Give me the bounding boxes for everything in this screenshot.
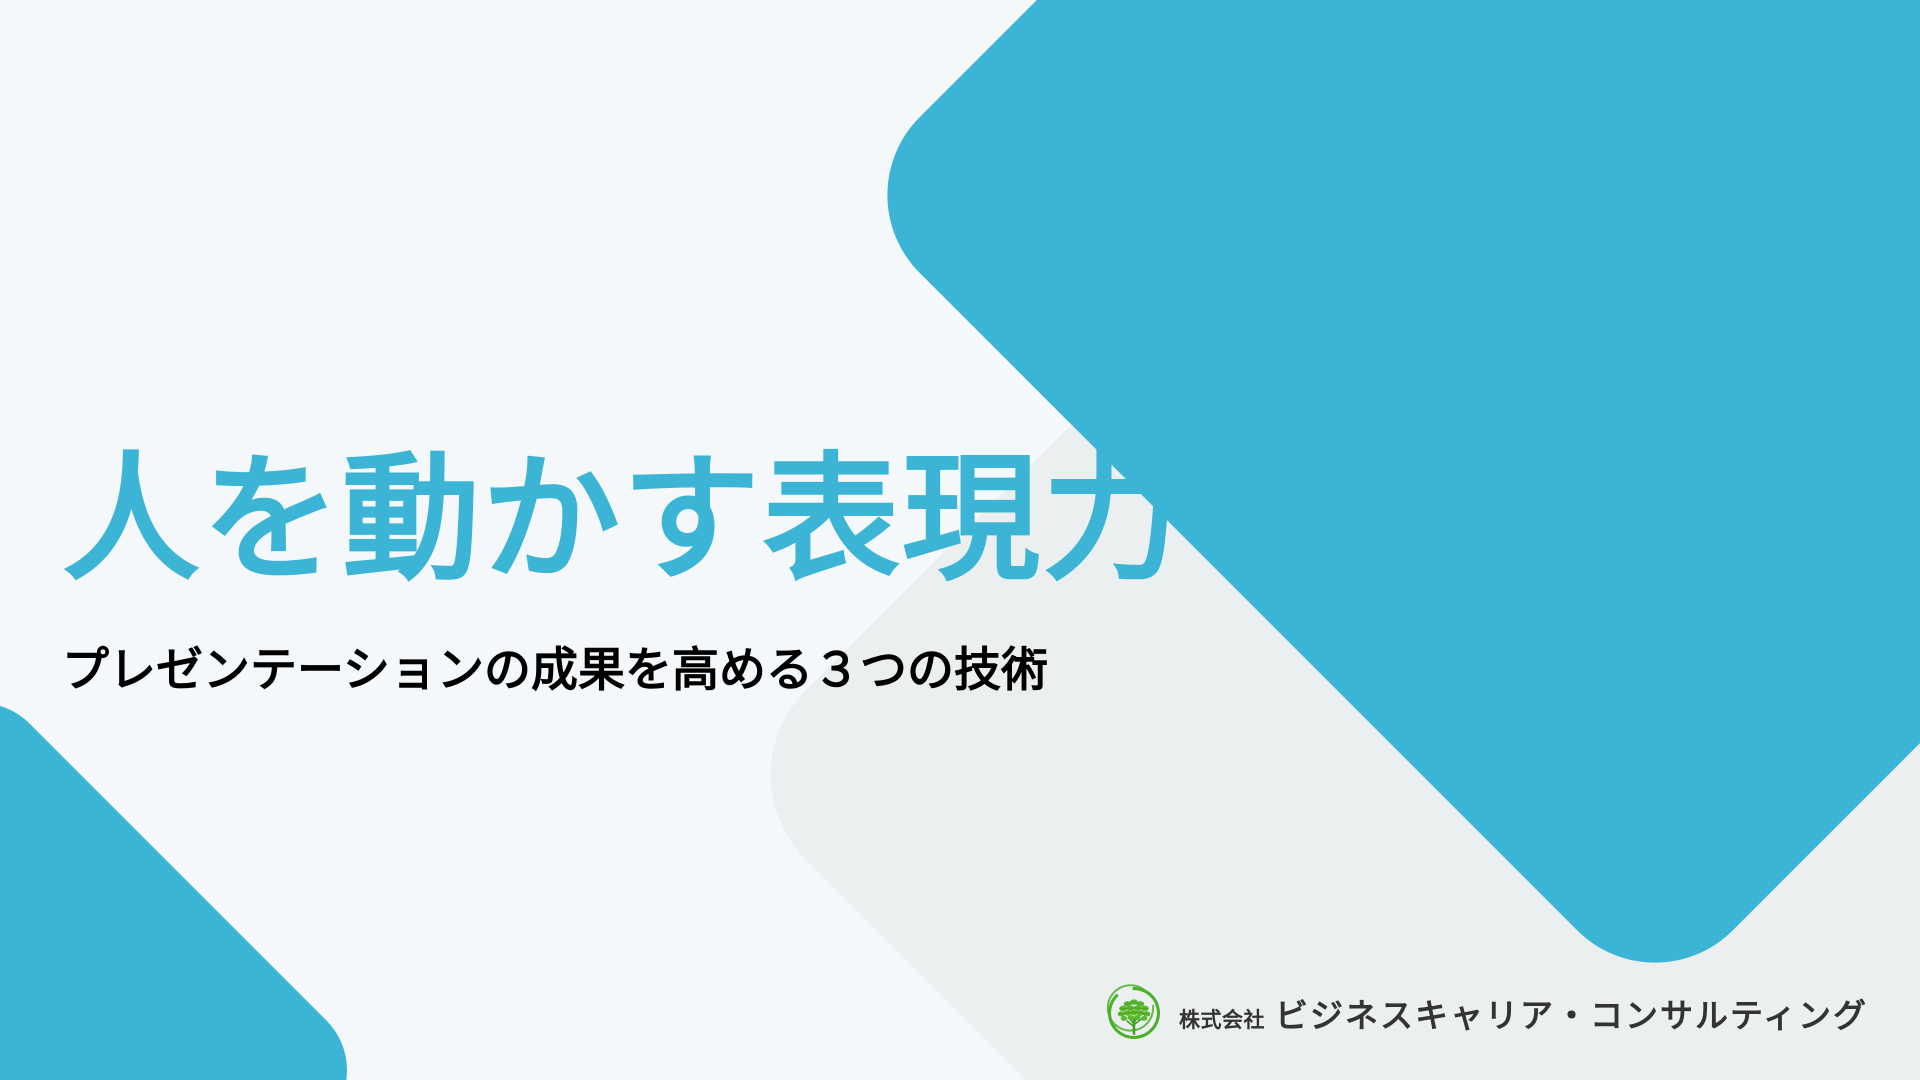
cyan-rotated-rounded-rect-bottom-left-decoration bbox=[0, 674, 376, 1080]
company-prefix: 株式会社 bbox=[1179, 1004, 1265, 1034]
title-slide: 人を動かす表現力 プレゼンテーションの成果を高める３つの技術 bbox=[0, 0, 1920, 1080]
title-text-block: 人を動かす表現力 プレゼンテーションの成果を高める３つの技術 bbox=[62, 448, 1182, 700]
company-logo-bar: 株式会社 ビジネスキャリア・コンサルティング bbox=[1105, 984, 1868, 1042]
company-logo-text: 株式会社 ビジネスキャリア・コンサルティング bbox=[1179, 989, 1868, 1037]
slide-subtitle: プレゼンテーションの成果を高める３つの技術 bbox=[62, 631, 1182, 700]
tree-in-circle-icon bbox=[1105, 984, 1163, 1042]
company-name: ビジネスキャリア・コンサルティング bbox=[1275, 989, 1868, 1037]
slide-title: 人を動かす表現力 bbox=[62, 448, 1182, 593]
